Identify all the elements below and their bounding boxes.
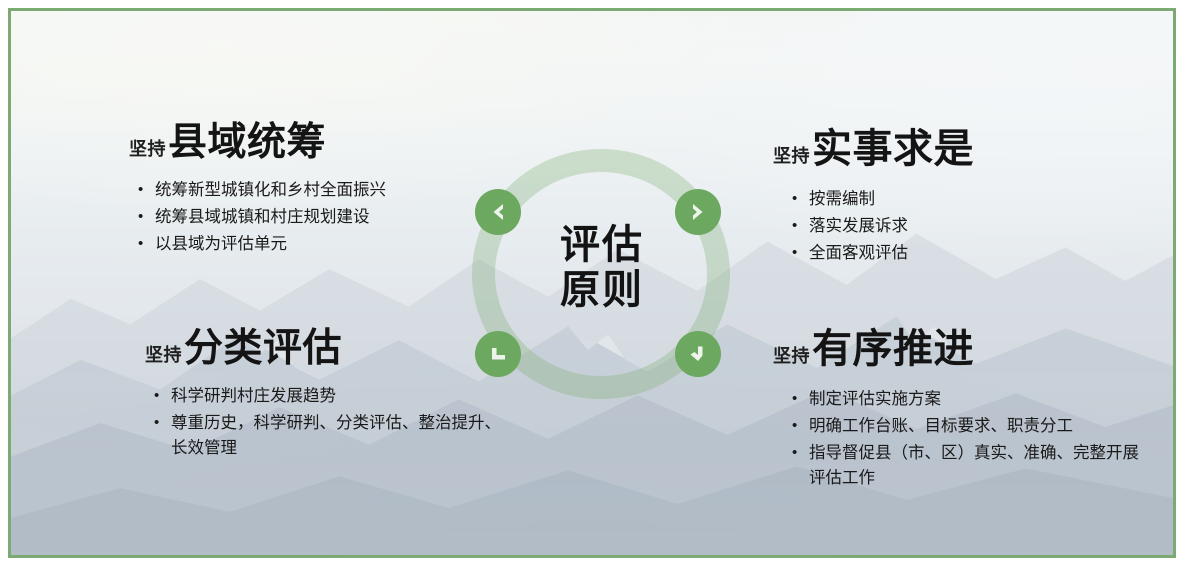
list-item: 落实发展诉求 <box>809 214 1143 239</box>
chevron-right-icon <box>675 189 721 235</box>
center-label-line2: 原则 <box>466 268 738 313</box>
slide: 坚持 县域统筹 统筹新型城镇化和乡村全面振兴 统筹县域城镇和村庄规划建设 以县域… <box>0 0 1184 566</box>
slide-content: 坚持 县域统筹 统筹新型城镇化和乡村全面振兴 统筹县域城镇和村庄规划建设 以县域… <box>11 11 1173 555</box>
bullet-list: 制定评估实施方案 明确工作台账、目标要求、职责分工 指导督促县（市、区）真实、准… <box>773 387 1153 491</box>
list-item: 以县域为评估单元 <box>155 232 489 257</box>
slide-frame: 坚持 县域统筹 统筹新型城镇化和乡村全面振兴 统筹县域城镇和村庄规划建设 以县域… <box>8 8 1176 558</box>
heading-prefix: 坚持 <box>773 147 810 167</box>
heading-prefix: 坚持 <box>773 347 810 367</box>
list-item: 统筹新型城镇化和乡村全面振兴 <box>155 178 489 203</box>
heading-title: 有序推进 <box>812 329 974 369</box>
bullet-list: 按需编制 落实发展诉求 全面客观评估 <box>773 187 1143 266</box>
bullet-list: 科学研判村庄发展趋势 尊重历史，科学研判、分类评估、整治提升、长效管理 <box>145 384 505 461</box>
quadrant-top-left: 坚持 县域统筹 统筹新型城镇化和乡村全面振兴 统筹县域城镇和村庄规划建设 以县域… <box>129 123 489 259</box>
quadrant-bottom-left: 坚持 分类评估 科学研判村庄发展趋势 尊重历史，科学研判、分类评估、整治提升、长… <box>145 329 505 463</box>
list-item: 按需编制 <box>809 187 1143 212</box>
heading-title: 分类评估 <box>184 329 342 368</box>
quadrant-top-right: 坚持 实事求是 按需编制 落实发展诉求 全面客观评估 <box>773 129 1143 268</box>
quadrant-heading: 坚持 有序推进 <box>773 329 1153 369</box>
list-item: 指导督促县（市、区）真实、准确、完整开展评估工作 <box>809 441 1153 491</box>
quadrant-heading: 坚持 实事求是 <box>773 129 1143 169</box>
chevron-down-left-icon <box>475 331 521 377</box>
center-label: 评估 原则 <box>466 223 738 313</box>
heading-title: 实事求是 <box>812 129 974 169</box>
quadrant-heading: 坚持 县域统筹 <box>129 123 489 162</box>
list-item: 明确工作台账、目标要求、职责分工 <box>809 414 1153 439</box>
list-item: 科学研判村庄发展趋势 <box>171 384 505 409</box>
heading-title: 县域统筹 <box>168 123 326 162</box>
quadrant-heading: 坚持 分类评估 <box>145 329 505 368</box>
quadrant-bottom-right: 坚持 有序推进 制定评估实施方案 明确工作台账、目标要求、职责分工 指导督促县（… <box>773 329 1153 493</box>
chevron-down-right-icon <box>675 331 721 377</box>
list-item: 尊重历史，科学研判、分类评估、整治提升、长效管理 <box>171 411 505 461</box>
heading-prefix: 坚持 <box>129 140 166 160</box>
list-item: 制定评估实施方案 <box>809 387 1153 412</box>
center-cycle-graphic: 评估 原则 <box>466 149 738 399</box>
bullet-list: 统筹新型城镇化和乡村全面振兴 统筹县域城镇和村庄规划建设 以县域为评估单元 <box>129 178 489 257</box>
heading-prefix: 坚持 <box>145 346 182 366</box>
list-item: 统筹县域城镇和村庄规划建设 <box>155 205 489 230</box>
list-item: 全面客观评估 <box>809 241 1143 266</box>
chevron-left-icon <box>475 189 521 235</box>
